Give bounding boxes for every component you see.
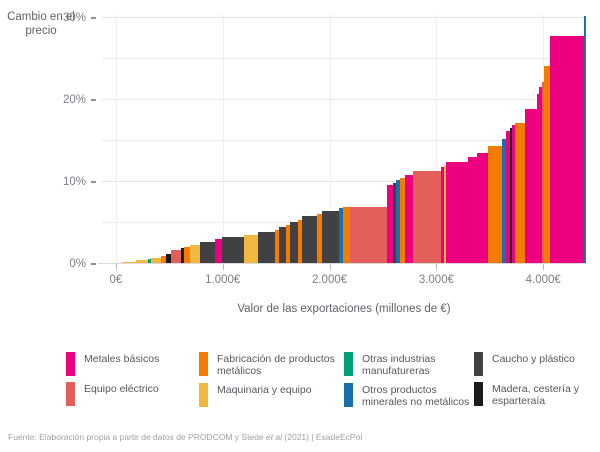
y-axis-ticks: 0%10%20%30% [40,14,96,264]
source-suffix: (2021) | EsadeEcPol [282,432,362,442]
legend-column: Metales básicosEquipo eléctrico [66,352,191,412]
bar [515,123,525,264]
source-note: Fuente: Elaboración propia a partir de d… [8,432,362,442]
legend-swatch-icon [66,382,75,406]
x-axis-title: Valor de las exportaciones (millones de … [102,303,586,315]
legend-item[interactable]: Caucho y plástico [474,352,594,376]
legend-column: Otras industrias manufaturerasOtros prod… [344,352,472,414]
bar [488,146,502,264]
y-tick-label: 0% [69,258,86,270]
bar [322,211,339,264]
y-tick-mark [91,263,96,265]
bar [302,216,317,264]
bar [244,235,258,265]
bar [477,153,488,264]
legend-swatch-icon [344,352,353,376]
legend-swatch-icon [199,383,208,407]
y-tick-mark [91,181,96,183]
x-tick-label: 3.000€ [419,274,454,286]
legend-item[interactable]: Metales básicos [66,352,191,376]
legend-label: Caucho y plástico [492,352,575,365]
bar [171,250,181,264]
y-tick-label: 20% [63,94,86,106]
x-tick-label: 2.000€ [312,274,347,286]
y-tick-mark [91,17,96,19]
legend-swatch-icon [474,382,483,406]
bar [405,175,412,264]
legend-label: Equipo eléctrico [84,382,159,395]
x-tick-label: 1.000€ [205,274,240,286]
x-tick-mark [116,264,117,270]
legend-item[interactable]: Maquinaria y equipo [199,383,339,407]
legend-swatch-icon [66,352,75,376]
bar [413,171,441,264]
x-tick-label: 4.000€ [526,274,561,286]
bar [446,162,468,264]
bar [200,242,215,264]
plot-area [102,14,586,264]
bar [350,207,387,264]
legend-label: Metales básicos [84,352,159,365]
bar [550,36,584,264]
chart-container: Cambio en el precio 0%10%20%30% 0€1.000€… [0,0,600,452]
bar [525,109,537,264]
bar [222,237,244,264]
bar [468,157,477,264]
legend-label: Otras industrias manufatureras [362,352,472,377]
bar [290,222,297,264]
x-tick-mark [223,264,224,270]
x-tick-mark [436,264,437,270]
bar [584,16,586,264]
legend-swatch-icon [344,383,353,407]
legend-item[interactable]: Otras industrias manufatureras [344,352,472,377]
legend-label: Maquinaria y equipo [217,383,312,396]
bar [190,245,201,264]
legend-column: Fabricación de productos metálicosMaquin… [199,352,339,413]
source-prefix: Fuente: Elaboración propia a partir de d… [8,432,266,442]
legend-item[interactable]: Otros productos minerales no metálicos [344,383,472,408]
x-tick-mark [330,264,331,270]
x-tick-label: 0€ [109,274,122,286]
y-tick-label: 10% [63,176,86,188]
legend-label: Fabricación de productos metálicos [217,352,339,377]
legend-label: Madera, cestería y esparteraía [492,382,594,407]
legend-column: Caucho y plásticoMadera, cestería y espa… [474,352,594,413]
legend-item[interactable]: Equipo eléctrico [66,382,191,406]
legend-label: Otros productos minerales no metálicos [362,383,472,408]
legend-swatch-icon [474,352,483,376]
x-tick-mark [543,264,544,270]
chart-legend: Metales básicosEquipo eléctricoFabricaci… [66,352,586,408]
bar [258,232,275,264]
x-axis-ticks: 0€1.000€2.000€3.000€4.000€ [102,264,586,300]
bar-series [102,14,586,264]
source-italic: et al [266,432,282,442]
y-tick-label: 30% [63,12,86,24]
y-tick-mark [91,99,96,101]
legend-item[interactable]: Fabricación de productos metálicos [199,352,339,377]
legend-item[interactable]: Madera, cestería y esparteraía [474,382,594,407]
legend-swatch-icon [199,352,208,376]
